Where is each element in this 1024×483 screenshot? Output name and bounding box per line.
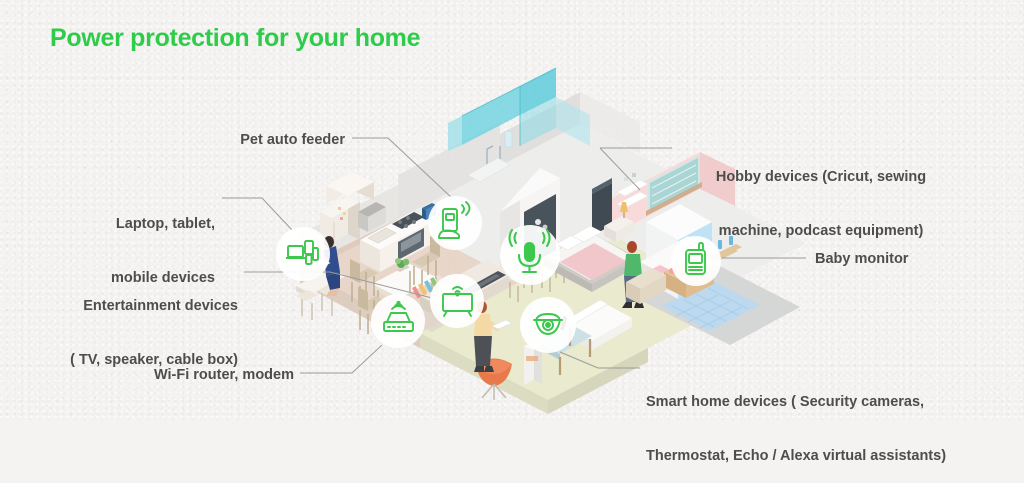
leader-laptop	[222, 198, 292, 230]
pet-feeder-icon	[428, 196, 482, 250]
label-wifi-router-modem: Wi-Fi router, modem	[0, 366, 294, 384]
microphone-icon	[500, 225, 560, 285]
label-hobby-line2: machine, podcast equipment)	[701, 222, 941, 240]
label-smart-home-line2: Thermostat, Echo / Alexa virtual assista…	[646, 447, 1024, 465]
label-laptop-line1: Laptop, tablet,	[0, 215, 215, 233]
label-pet-auto-feeder: Pet auto feeder	[0, 131, 345, 149]
label-hobby-line1: Hobby devices (Cricut, sewing	[701, 168, 941, 186]
label-hobby-devices: Hobby devices (Cricut, sewing machine, p…	[701, 132, 941, 258]
label-smart-home-devices: Smart home devices ( Security cameras, T…	[646, 357, 1024, 483]
leader-wifi-router	[300, 345, 382, 373]
label-smart-home-line1: Smart home devices ( Security cameras,	[646, 393, 1024, 411]
laptop-tablet-phone-icon	[276, 227, 330, 281]
label-baby-monitor: Baby monitor	[815, 250, 1015, 268]
television-icon	[430, 274, 484, 328]
wifi-router-icon	[371, 294, 425, 348]
label-entertainment-line1: Entertainment devices	[0, 297, 238, 315]
security-camera-icon	[520, 297, 576, 353]
